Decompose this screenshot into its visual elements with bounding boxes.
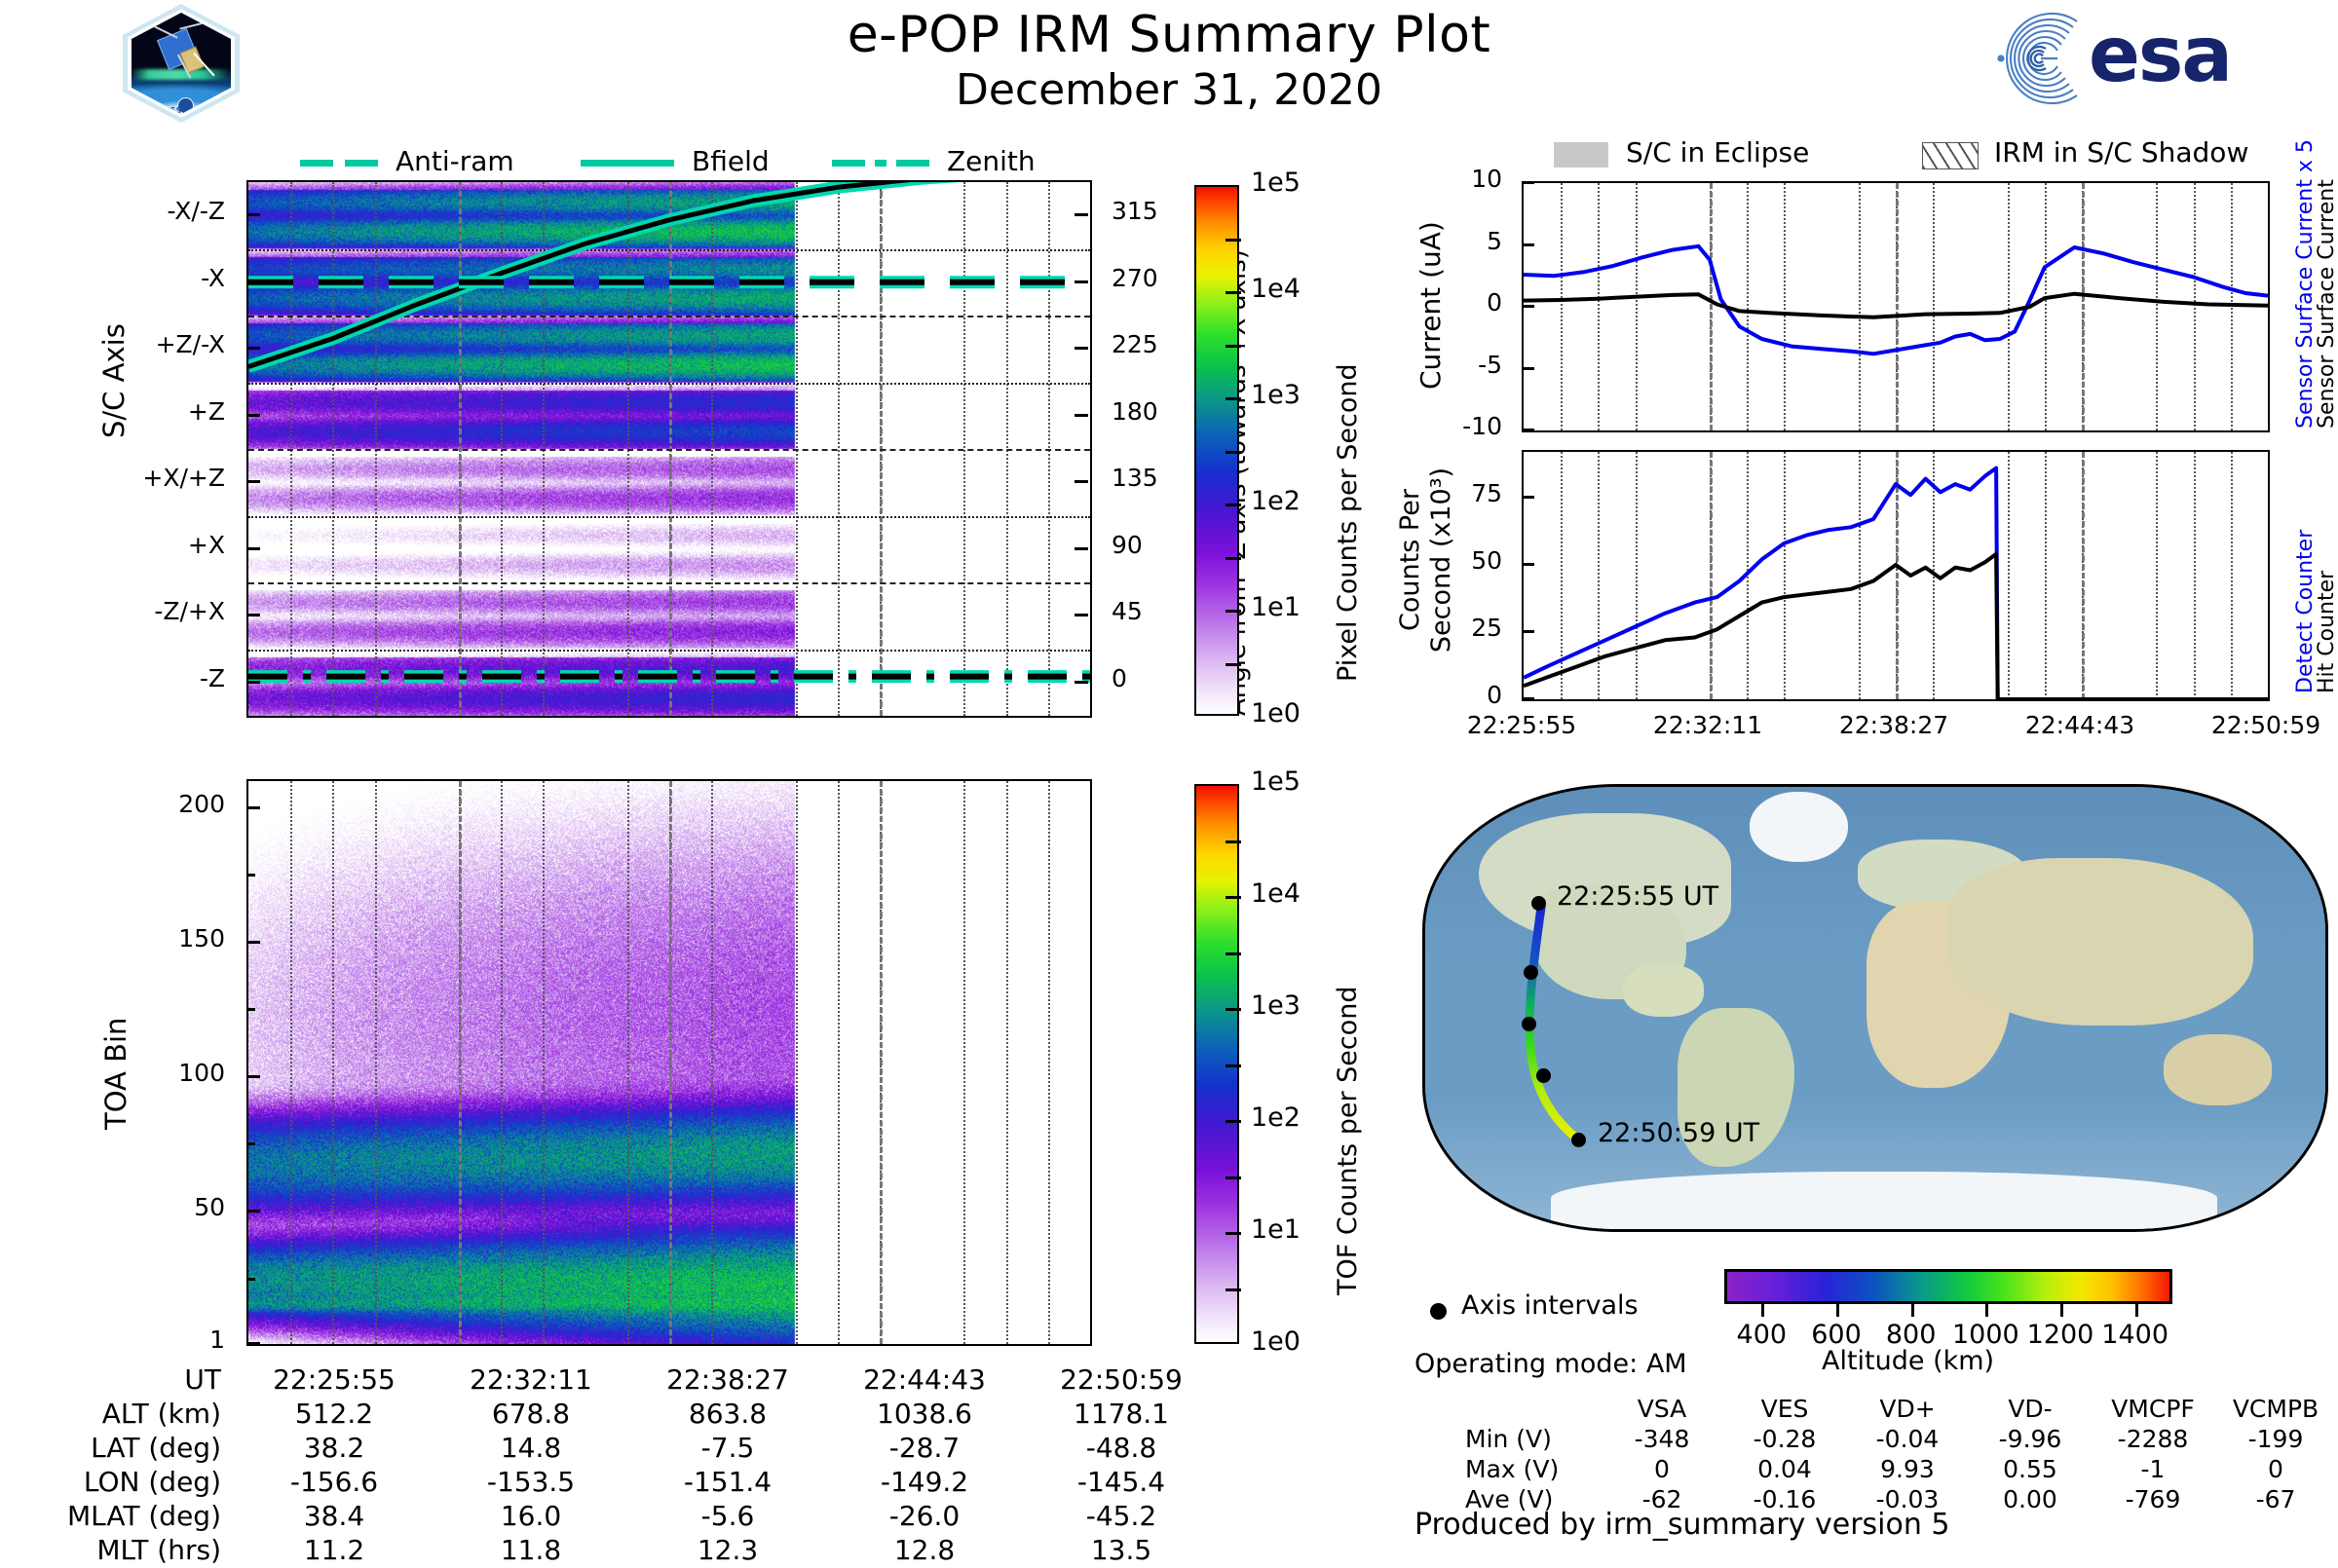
tick-mark <box>1522 181 1534 184</box>
counts-panel <box>1522 450 2270 701</box>
xtick-label: 22:25:55 <box>1419 711 1624 739</box>
track-label-end: 22:50:59 UT <box>1598 1118 1759 1148</box>
xtick-label: 22:32:11 <box>1605 711 1810 739</box>
gridline-minor <box>290 781 292 1344</box>
table-row: ALT (km)512.2678.8863.81038.61178.1 <box>56 1398 1219 1430</box>
table-row: MLAT (deg)38.416.0-5.6-26.0-45.2 <box>56 1500 1219 1532</box>
colorbar-tick-label: 1e3 <box>1251 990 1301 1021</box>
ephemeris-cell: 22:32:11 <box>434 1363 628 1396</box>
track-marker-3 <box>1522 1017 1536 1031</box>
voltage-column-header: VD- <box>1970 1395 2091 1423</box>
track-marker-end <box>1571 1133 1586 1147</box>
legend-label-sc-eclipse: S/C in Eclipse <box>1626 136 1809 168</box>
operating-mode-label: Operating mode: AM <box>1414 1349 1687 1379</box>
altitude-tick-label: 1400 <box>2077 1320 2194 1350</box>
voltage-row-label: Min (V) <box>1461 1425 1600 1453</box>
ephemeris-cell: 13.5 <box>1024 1534 1219 1566</box>
altitude-tick <box>1836 1304 1839 1317</box>
gridline-major <box>880 781 883 1344</box>
colorbar-tick-label: 1e1 <box>1251 1214 1301 1245</box>
track-marker-2 <box>1524 965 1538 980</box>
toa-bin-ytick: 50 <box>0 1193 225 1221</box>
track-label-start: 22:25:55 UT <box>1557 881 1718 912</box>
gridline-minor <box>627 781 629 1344</box>
colorbar-tick <box>1226 1008 1241 1011</box>
table-row: Max (V)00.049.930.55-10 <box>1461 1455 2336 1483</box>
colorbar-tick <box>1226 1064 1241 1067</box>
ephemeris-cell: 14.8 <box>434 1432 628 1464</box>
gridline-minor <box>375 781 377 1344</box>
tick-mark <box>246 806 260 809</box>
colorbar-tick-label: 1e5 <box>1251 766 1301 797</box>
tick-mark <box>246 213 260 216</box>
voltage-cell: 0 <box>1602 1455 1722 1483</box>
ytick-label: 5 <box>0 227 1502 255</box>
gridline-major <box>459 781 462 1344</box>
tick-mark <box>246 1210 260 1213</box>
current-series <box>1524 183 2268 430</box>
counts-series <box>1524 452 2268 699</box>
tick-mark-minor <box>246 874 255 877</box>
voltage-cell: 0.04 <box>1724 1455 1845 1483</box>
voltage-column-header: VMCPF <box>2093 1395 2213 1423</box>
tick-mark <box>1075 213 1088 216</box>
ephemeris-cell: -28.7 <box>827 1432 1022 1464</box>
tick-mark <box>1522 630 1534 633</box>
ephemeris-cell: -153.5 <box>434 1466 628 1498</box>
tick-mark <box>246 941 260 944</box>
colorbar-tick <box>1226 1232 1241 1235</box>
ephemeris-cell: 12.8 <box>827 1534 1022 1566</box>
tick-mark <box>1522 563 1534 566</box>
gridline-minor <box>711 781 713 1344</box>
axis-interval-dot-icon <box>1430 1303 1447 1320</box>
tick-mark <box>1522 496 1534 499</box>
voltage-row-label: Max (V) <box>1461 1455 1600 1483</box>
series-line <box>1524 294 2268 317</box>
toa-bin-ytick: 1 <box>0 1325 225 1354</box>
ytick-label: 75 <box>0 479 1502 507</box>
esa-logo-text: esa <box>2089 14 2231 97</box>
gridline-minor <box>1006 781 1008 1344</box>
ephemeris-row-label: ALT (km) <box>56 1398 235 1430</box>
tick-mark <box>1075 280 1088 283</box>
table-row: LON (deg)-156.6-153.5-151.4-149.2-145.4 <box>56 1466 1219 1498</box>
eclipse-legend: S/C in Eclipse IRM in S/C Shadow <box>1554 136 2275 175</box>
toa-bin-spectrogram-panel <box>246 779 1092 1346</box>
sc-axis-ytick: -X/-Z <box>0 197 225 225</box>
tick-mark <box>1522 305 1534 308</box>
xtick-label: 22:50:59 <box>2164 711 2338 739</box>
voltage-table: VSAVESVD+VD-VMCPFVCMPBMin (V)-348-0.28-0… <box>1459 1393 2338 1515</box>
ephemeris-cell: -45.2 <box>1024 1500 1219 1532</box>
gridline-major <box>669 781 672 1344</box>
voltage-cell: -0.28 <box>1724 1425 1845 1453</box>
colorbar-tick-label: 1e3 <box>1251 380 1301 410</box>
ephemeris-cell: -26.0 <box>827 1500 1022 1532</box>
toa-bin-ytick: 150 <box>0 924 225 952</box>
ephemeris-cell: -151.4 <box>630 1466 825 1498</box>
altitude-tick <box>1761 1304 1764 1317</box>
ephemeris-cell: 512.2 <box>237 1398 432 1430</box>
ground-track-map: 22:25:55 UT 22:50:59 UT <box>1422 784 2328 1232</box>
colorbar-tick <box>1226 952 1241 955</box>
voltage-column-header: VES <box>1724 1395 1845 1423</box>
voltage-cell: 0 <box>2215 1455 2336 1483</box>
track-marker-4 <box>1536 1068 1551 1083</box>
altitude-tick <box>2060 1304 2063 1317</box>
gridline-minor <box>501 781 503 1344</box>
ytick-label: -10 <box>0 412 1502 440</box>
ephemeris-cell: -156.6 <box>237 1466 432 1498</box>
colorbar-tick <box>1226 1176 1241 1179</box>
ephemeris-cell: 11.8 <box>434 1534 628 1566</box>
ephemeris-row-label: MLAT (deg) <box>56 1500 235 1532</box>
table-row: UT22:25:5522:32:1122:38:2722:44:4322:50:… <box>56 1363 1219 1396</box>
voltage-corner-cell <box>1461 1395 1600 1423</box>
voltage-cell: 0.00 <box>1970 1485 2091 1513</box>
ephemeris-cell: 11.2 <box>237 1534 432 1566</box>
colorbar-tick <box>1226 345 1241 348</box>
esa-swirl-icon <box>1980 10 2085 107</box>
ephemeris-cell: -149.2 <box>827 1466 1022 1498</box>
colorbar-tick <box>1226 840 1241 843</box>
gridline-minor <box>332 781 334 1344</box>
ytick-label: 25 <box>0 614 1502 642</box>
tof-counts-colorbar-title: TOF Counts per Second <box>1333 987 1363 1296</box>
voltage-cell: -2288 <box>2093 1425 2213 1453</box>
ephemeris-cell: 22:50:59 <box>1024 1363 1219 1396</box>
altitude-tick <box>1911 1304 1914 1317</box>
ephemeris-cell: -7.5 <box>630 1432 825 1464</box>
ephemeris-row-label: UT <box>56 1363 235 1396</box>
tick-mark-minor <box>246 1278 255 1281</box>
xtick-label: 22:38:27 <box>1791 711 1996 739</box>
ephemeris-cell: -5.6 <box>630 1500 825 1532</box>
ytick-label: -5 <box>0 351 1502 379</box>
table-row: Min (V)-348-0.28-0.04-9.96-2288-199 <box>1461 1425 2336 1453</box>
table-header-row: VSAVESVD+VD-VMCPFVCMPB <box>1461 1395 2336 1423</box>
tick-mark <box>1522 243 1534 246</box>
cassiope-logo: CASSIOPE <box>123 4 240 123</box>
toa-bin-ytick: 100 <box>0 1059 225 1087</box>
ephemeris-cell: -48.8 <box>1024 1432 1219 1464</box>
ephemeris-row-label: MLT (hrs) <box>56 1534 235 1566</box>
colorbar-tick-label: 1e0 <box>1251 1326 1301 1357</box>
current-panel <box>1522 181 2270 432</box>
colorbar-tick <box>1226 451 1241 454</box>
tick-mark-minor <box>246 1142 255 1145</box>
voltage-cell: 0.55 <box>1970 1455 2091 1483</box>
colorbar-tick-label: 1e4 <box>1251 878 1301 909</box>
ephemeris-cell: 1038.6 <box>827 1398 1022 1430</box>
legend-label-irm-shadow: IRM in S/C Shadow <box>1994 136 2248 168</box>
xtick-label: 22:44:43 <box>1978 711 2182 739</box>
gridline-minor <box>963 781 965 1344</box>
colorbar-tick <box>1226 896 1241 899</box>
gridline-minor <box>838 781 840 1344</box>
colorbar-tick <box>1226 610 1241 613</box>
ephemeris-cell: 22:38:27 <box>630 1363 825 1396</box>
voltage-column-header: VSA <box>1602 1395 1722 1423</box>
ytick-label: 10 <box>0 165 1502 193</box>
table-row: MLT (hrs)11.211.812.312.813.5 <box>56 1534 1219 1566</box>
ephemeris-cell: 678.8 <box>434 1398 628 1430</box>
gridline-minor <box>543 781 545 1344</box>
altitude-colorbar-title: Altitude (km) <box>1822 1346 1994 1376</box>
tick-mark <box>1522 367 1534 370</box>
ephemeris-cell: 863.8 <box>630 1398 825 1430</box>
tick-mark <box>1522 429 1534 431</box>
colorbar-tick <box>1226 397 1241 400</box>
ephemeris-cell: 16.0 <box>434 1500 628 1532</box>
ephemeris-cell: 38.4 <box>237 1500 432 1532</box>
ephemeris-cell: 22:44:43 <box>827 1363 1022 1396</box>
gridline-minor <box>796 781 798 1344</box>
tick-mark <box>246 1075 260 1078</box>
table-row: LAT (deg)38.214.8-7.5-28.7-48.8 <box>56 1432 1219 1464</box>
altitude-tick <box>2135 1304 2138 1317</box>
tick-mark <box>246 1342 260 1345</box>
cassiope-logo-text: CASSIOPE <box>132 106 231 115</box>
tick-mark <box>246 280 260 283</box>
voltage-cell: -769 <box>2093 1485 2213 1513</box>
colorbar-tick-label: 1e2 <box>1251 1102 1301 1133</box>
track-marker-start <box>1531 896 1546 911</box>
voltage-column-header: VCMPB <box>2215 1395 2336 1423</box>
voltage-cell: -348 <box>1602 1425 1722 1453</box>
tick-mark <box>1522 697 1534 700</box>
ephemeris-cell: 1178.1 <box>1024 1398 1219 1430</box>
counts-right-label-black: Hit Counter <box>2315 571 2338 693</box>
ytick-label: 50 <box>0 546 1502 575</box>
current-right-label-black: Sensor Surface Current <box>2315 179 2338 429</box>
ytick-label: 0 <box>0 681 1502 709</box>
ephemeris-cell: -145.4 <box>1024 1466 1219 1498</box>
ephemeris-row-label: LON (deg) <box>56 1466 235 1498</box>
voltage-cell: -199 <box>2215 1425 2336 1453</box>
voltage-cell: -0.04 <box>1847 1425 1968 1453</box>
eclipse-swatch <box>1554 142 1608 168</box>
series-line <box>1524 468 2268 699</box>
ephemeris-cell: 22:25:55 <box>237 1363 432 1396</box>
esa-logo: esa <box>1980 8 2320 109</box>
voltage-cell: 9.93 <box>1847 1455 1968 1483</box>
angle-ytick: 315 <box>1112 197 1158 225</box>
colorbar-tick <box>1226 1288 1241 1291</box>
voltage-cell: -67 <box>2215 1485 2336 1513</box>
shadow-swatch <box>1922 142 1979 169</box>
produced-by-label: Produced by irm_summary version 5 <box>1414 1508 1949 1542</box>
ephemeris-cell: 38.2 <box>237 1432 432 1464</box>
voltage-cell: -1 <box>2093 1455 2213 1483</box>
ephemeris-cell: 12.3 <box>630 1534 825 1566</box>
colorbar-tick <box>1226 1120 1241 1123</box>
gridline-minor <box>1048 781 1050 1344</box>
ytick-label: 0 <box>0 288 1502 317</box>
altitude-colorbar <box>1724 1269 2172 1304</box>
altitude-tick <box>1985 1304 1988 1317</box>
ephemeris-row-label: LAT (deg) <box>56 1432 235 1464</box>
voltage-cell: -9.96 <box>1970 1425 2091 1453</box>
ephemeris-table: UT22:25:5522:32:1122:38:2722:44:4322:50:… <box>54 1362 1221 1568</box>
axis-intervals-label: Axis intervals <box>1461 1290 1639 1321</box>
tick-mark-minor <box>246 1008 255 1011</box>
voltage-column-header: VD+ <box>1847 1395 1968 1423</box>
colorbar-tick <box>1226 663 1241 666</box>
toa-bin-ytick: 200 <box>0 790 225 818</box>
